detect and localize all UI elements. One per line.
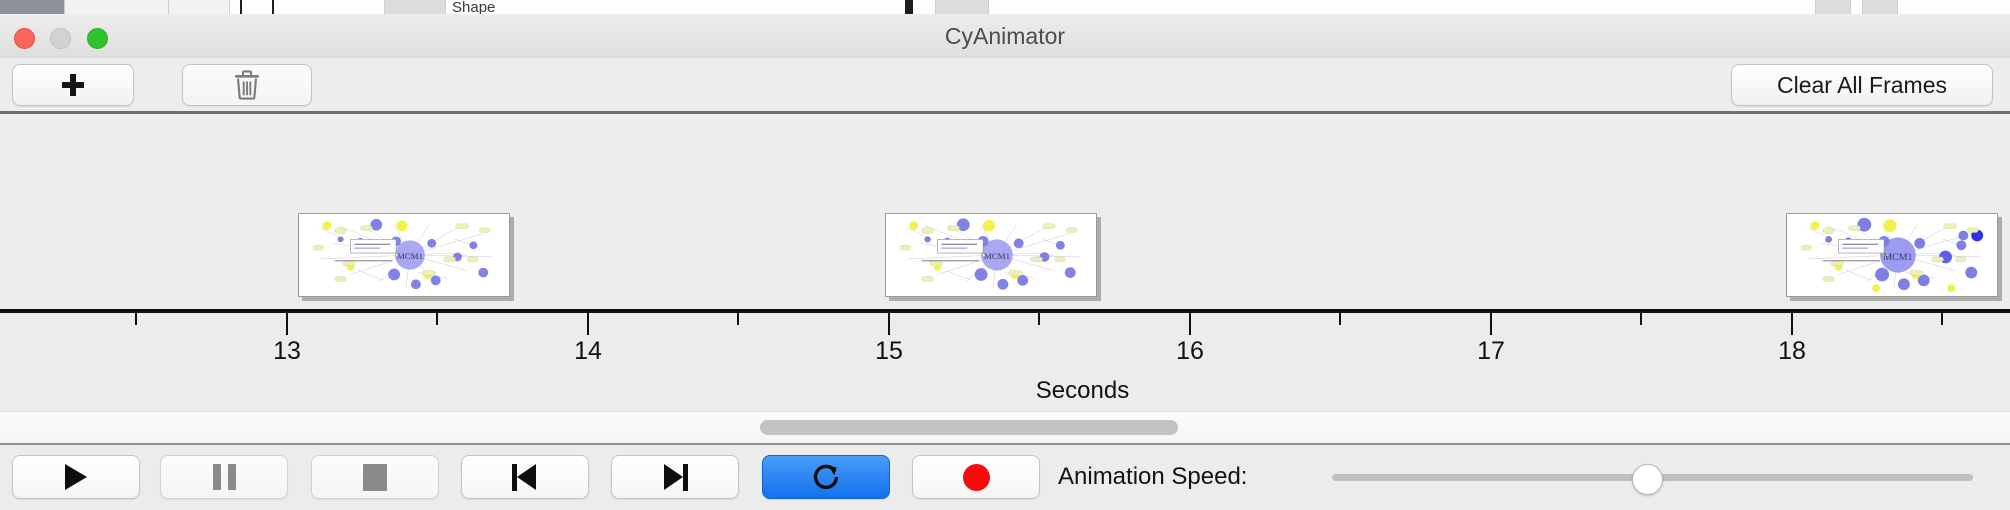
svg-text:MCM1: MCM1 <box>397 251 423 261</box>
record-icon <box>963 464 990 491</box>
clear-all-frames-button[interactable]: Clear All Frames <box>1731 64 1993 106</box>
title-bar: CyAnimator <box>0 14 2010 59</box>
window-title: CyAnimator <box>0 14 2010 58</box>
frame-thumbnail[interactable]: MCM1 <box>1786 213 1998 297</box>
axis-tick-label: 14 <box>574 337 602 366</box>
network-preview: MCM1 <box>299 214 509 296</box>
bg-tick <box>272 0 274 14</box>
axis-tick-label: 15 <box>875 337 903 366</box>
bg-chip <box>384 0 446 14</box>
loop-icon <box>811 462 841 492</box>
delete-frame-button[interactable] <box>182 64 312 106</box>
scrollbar-thumb[interactable] <box>760 420 1178 435</box>
network-preview: MCM1 <box>886 214 1096 296</box>
bg-chip <box>935 0 989 14</box>
bg-chip <box>1862 0 1898 14</box>
add-frame-button[interactable] <box>12 64 134 106</box>
axis-tick-minor <box>1941 313 1943 325</box>
timeline-axis <box>0 309 2010 313</box>
record-button[interactable] <box>912 455 1040 499</box>
bg-window-tab-label: Shape <box>452 0 495 15</box>
axis-tick-minor <box>1339 313 1341 325</box>
clear-all-frames-label: Clear All Frames <box>1777 72 1947 99</box>
bg-chip <box>168 0 230 14</box>
axis-tick-major <box>1189 313 1191 335</box>
timeline-panel[interactable]: MCM1 <box>0 114 2010 311</box>
axis-title-label: Seconds <box>1036 377 1129 405</box>
frame-thumbnail[interactable]: MCM1 <box>298 213 510 297</box>
svg-text:MCM1: MCM1 <box>984 251 1010 261</box>
axis-tick-label: 16 <box>1176 337 1204 366</box>
animation-speed-label: Animation Speed: <box>1058 455 1247 499</box>
stop-button[interactable] <box>311 455 439 499</box>
axis-tick-major <box>286 313 288 335</box>
axis-tick-label: 17 <box>1477 337 1505 366</box>
axis-tick-minor <box>1640 313 1642 325</box>
bg-tick <box>240 0 242 14</box>
cyanimator-window: Shape CyAnimator Clear All Frame <box>0 0 2010 510</box>
svg-text:MCM1: MCM1 <box>1883 252 1912 263</box>
axis-tick-major <box>1490 313 1492 335</box>
axis-tick-minor <box>436 313 438 325</box>
network-preview: MCM1 <box>1787 214 1997 296</box>
plus-icon <box>62 74 84 96</box>
playback-control-bar: Animation Speed: <box>0 445 2010 510</box>
axis-tick-label: 18 <box>1778 337 1806 366</box>
trash-icon <box>234 70 260 100</box>
bg-chip <box>64 0 170 14</box>
frame-thumbnail[interactable]: MCM1 <box>885 213 1097 297</box>
skip-back-icon <box>512 464 538 491</box>
stop-icon <box>363 464 387 491</box>
play-button[interactable] <box>12 455 140 499</box>
timeline-scrollbar[interactable] <box>0 411 2010 445</box>
axis-tick-major <box>1791 313 1793 335</box>
toolbar: Clear All Frames <box>0 58 2010 113</box>
loop-button[interactable] <box>762 455 890 499</box>
axis-tick-label: 13 <box>273 337 301 366</box>
skip-to-start-button[interactable] <box>461 455 589 499</box>
play-icon <box>65 464 87 490</box>
bg-chip <box>1815 0 1851 14</box>
bg-chip <box>0 0 64 14</box>
pause-icon <box>213 464 236 490</box>
background-window-strip: Shape <box>0 0 2010 15</box>
axis-tick-major <box>587 313 589 335</box>
skip-forward-icon <box>662 464 688 491</box>
axis-tick-minor <box>1038 313 1040 325</box>
axis-tick-major <box>888 313 890 335</box>
skip-to-end-button[interactable] <box>611 455 739 499</box>
bg-tick <box>905 0 913 14</box>
axis-tick-minor <box>737 313 739 325</box>
axis-tick-minor <box>135 313 137 325</box>
animation-speed-slider-thumb[interactable] <box>1632 464 1663 495</box>
axis-title: Seconds <box>0 377 2010 405</box>
pause-button[interactable] <box>160 455 288 499</box>
